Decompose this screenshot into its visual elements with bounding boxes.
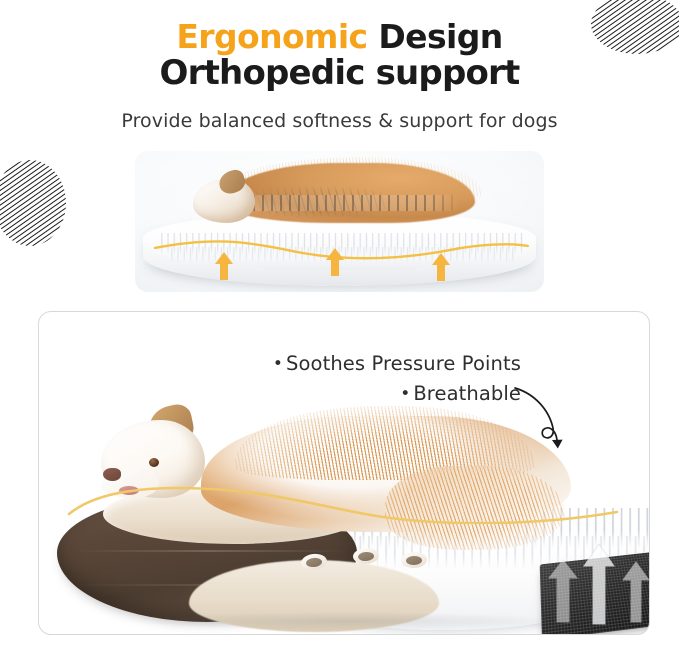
- bed-piping-contour-line: [65, 480, 625, 524]
- dog-paw-1: [300, 553, 328, 572]
- headline-accent-word: Ergonomic: [176, 17, 367, 56]
- dog-paw-3: [401, 552, 428, 569]
- dog-spine-xray: [235, 195, 461, 211]
- paw-pad: [358, 551, 375, 561]
- headline-line2: Orthopedic support: [0, 55, 679, 91]
- airflow-arrow-1: [549, 560, 577, 622]
- airflow-arrows-group: [537, 526, 650, 630]
- support-arrow-3-icon: [431, 252, 451, 282]
- product-photo-scene: [39, 312, 649, 634]
- product-ground-shadow: [129, 612, 569, 630]
- support-arrow-2-icon: [325, 247, 345, 277]
- page-subtitle: Provide balanced softness & support for …: [0, 110, 679, 132]
- paw-pad: [306, 557, 323, 568]
- dog-paw-2: [352, 547, 379, 565]
- support-arrow-1-icon: [214, 251, 234, 281]
- dog-xray-illustration: [179, 157, 499, 241]
- poster-stage: Ergonomic Design Orthopedic support Prov…: [0, 0, 679, 659]
- hatched-circle-left-icon: [0, 160, 66, 246]
- airflow-arrow-3: [623, 562, 649, 622]
- top-product-panel: [135, 151, 544, 292]
- headline-line1-rest: Design: [368, 17, 503, 56]
- dog-eye: [149, 458, 159, 467]
- page-title: Ergonomic Design Orthopedic support: [0, 20, 679, 91]
- bottom-product-panel: •Soothes Pressure Points •Breathable: [38, 311, 650, 635]
- paw-pad: [406, 556, 422, 566]
- airflow-arrow-2: [584, 544, 614, 624]
